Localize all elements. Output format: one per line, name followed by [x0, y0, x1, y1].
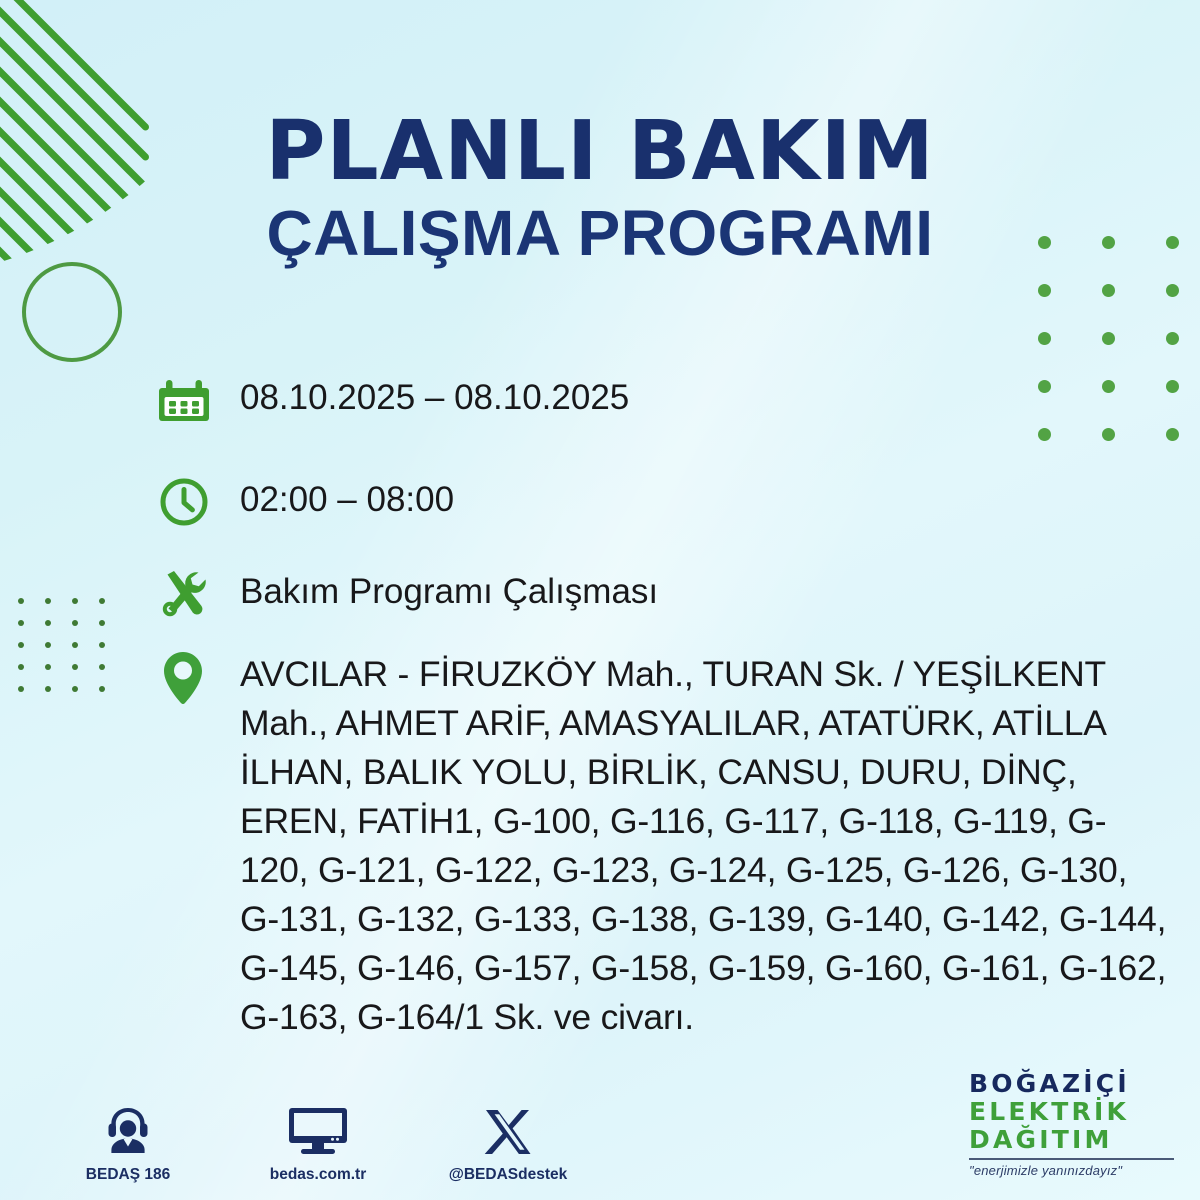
headset-support-icon [62, 1101, 194, 1157]
date-range-value: 08.10.2025 – 08.10.2025 [240, 372, 629, 415]
decorative-dot [45, 620, 51, 626]
contact-label: @BEDASdestek [442, 1166, 574, 1184]
planned-maintenance-poster: PLANLI BAKIM ÇALIŞMA PROGRAMI [0, 0, 1200, 1200]
decorative-dot [72, 598, 78, 604]
info-row-work-type: Bakım Programı Çalışması [158, 566, 1168, 648]
logo-line-dagitim: DAĞITIM [969, 1127, 1174, 1152]
page-subtitle: ÇALIŞMA PROGRAMI [0, 198, 1200, 270]
info-row-time: 02:00 – 08:00 [158, 474, 1168, 566]
contact-list: BEDAŞ 186 bedas.com.t [0, 1101, 574, 1184]
logo-line-elektrik: ELEKTRİK [969, 1099, 1174, 1124]
decorative-dot [72, 642, 78, 648]
contact-website[interactable]: bedas.com.tr [252, 1101, 384, 1184]
decorative-dot [99, 664, 105, 670]
time-range-value: 02:00 – 08:00 [240, 474, 454, 517]
decorative-dot [1038, 284, 1051, 297]
decorative-dot [99, 620, 105, 626]
location-pin-icon [158, 648, 240, 708]
decorative-dot [1166, 284, 1179, 297]
clock-icon [158, 474, 240, 528]
decorative-dot [18, 598, 24, 604]
logo-divider [969, 1158, 1174, 1160]
logo-line-bogazici: BOĞAZİÇİ [969, 1071, 1174, 1096]
circle-outline-decoration [22, 262, 122, 362]
poster-header: PLANLI BAKIM ÇALIŞMA PROGRAMI [0, 112, 1200, 270]
contact-x-social[interactable]: @BEDASdestek [442, 1101, 574, 1184]
info-row-address: AVCILAR - FİRUZKÖY Mah., TURAN Sk. / YEŞ… [158, 648, 1168, 1042]
decorative-dot [45, 686, 51, 692]
decorative-dot [99, 686, 105, 692]
decorative-dot [72, 620, 78, 626]
tools-icon [158, 566, 240, 620]
decorative-dot [18, 664, 24, 670]
x-twitter-icon [442, 1101, 574, 1157]
page-title: PLANLI BAKIM [0, 112, 1200, 192]
decorative-dot [99, 598, 105, 604]
address-value: AVCILAR - FİRUZKÖY Mah., TURAN Sk. / YEŞ… [240, 648, 1168, 1042]
decorative-dot [18, 620, 24, 626]
contact-label: BEDAŞ 186 [62, 1166, 194, 1184]
work-type-value: Bakım Programı Çalışması [240, 566, 658, 609]
decorative-dot [99, 642, 105, 648]
info-row-date: 08.10.2025 – 08.10.2025 [158, 372, 1168, 474]
info-rows: 08.10.2025 – 08.10.2025 02:00 – 08:00 [158, 372, 1168, 1042]
decorative-dot [72, 686, 78, 692]
decorative-dot [1166, 332, 1179, 345]
decorative-dot [1102, 284, 1115, 297]
contact-label: bedas.com.tr [252, 1166, 384, 1184]
dot-grid-decoration-left [18, 598, 126, 708]
decorative-dot [72, 664, 78, 670]
calendar-icon [158, 372, 240, 426]
decorative-dot [45, 642, 51, 648]
monitor-icon [252, 1101, 384, 1157]
decorative-dot [18, 686, 24, 692]
contact-call-center[interactable]: BEDAŞ 186 [62, 1101, 194, 1184]
decorative-dot [18, 642, 24, 648]
decorative-dot [45, 664, 51, 670]
decorative-dot [1102, 332, 1115, 345]
bedas-logo: BOĞAZİÇİ ELEKTRİK DAĞITIM "enerjimizle y… [969, 1071, 1174, 1178]
decorative-dot [45, 598, 51, 604]
logo-tagline: "enerjimizle yanınızdayız" [969, 1163, 1174, 1178]
decorative-dot [1038, 332, 1051, 345]
